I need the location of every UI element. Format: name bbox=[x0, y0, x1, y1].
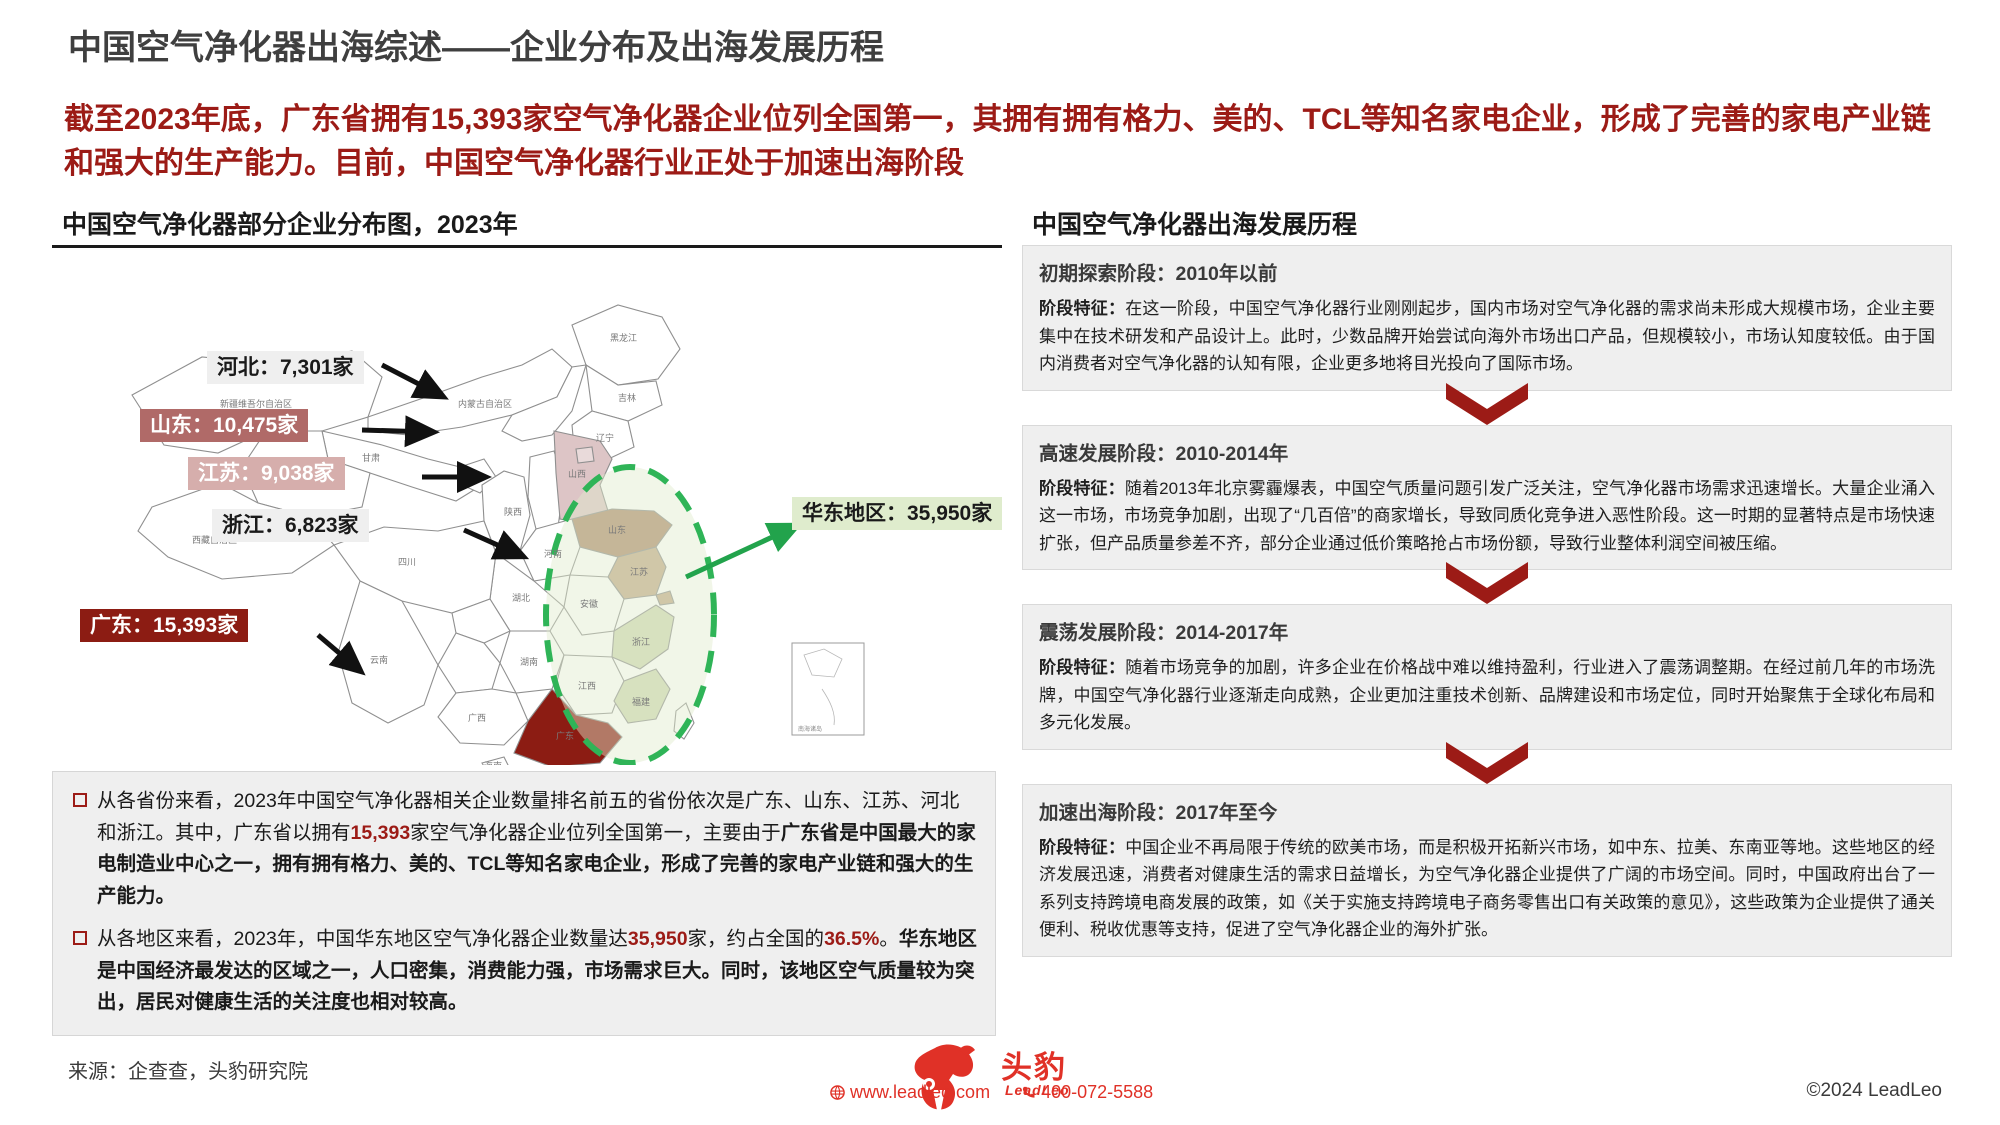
svg-text:陕西: 陕西 bbox=[504, 506, 522, 517]
bullet-text-provinces: 从各省份来看，2023年中国空气净化器相关企业数量排名前五的省份依次是广东、山东… bbox=[97, 786, 977, 912]
svg-text:江西: 江西 bbox=[578, 681, 596, 691]
stage-title-2: 震荡发展阶段：2014-2017年 bbox=[1039, 616, 1935, 645]
footer-contact: www.leadleo.com 400-072-5588 bbox=[830, 1082, 1179, 1103]
map-label-jiangsu: 江苏：9,038家 bbox=[188, 457, 345, 490]
stage-text-0: 在这一阶段，中国空气净化器行业刚刚起步，国内市场对空气净化器的需求尚未形成大规模… bbox=[1039, 299, 1935, 373]
stage-body-1: 阶段特征：随着2013年北京雾霾爆表，中国空气质量问题引发广泛关注，空气净化器市… bbox=[1039, 475, 1935, 558]
map-label-guangdong: 广东：15,393家 bbox=[80, 609, 248, 642]
svg-text:广西: 广西 bbox=[468, 712, 486, 723]
stage-card-1: 高速发展阶段：2010-2014年 阶段特征：随着2013年北京雾霾爆表，中国空… bbox=[1022, 425, 1952, 571]
svg-text:湖北: 湖北 bbox=[512, 593, 530, 603]
timeline-column: 初期探索阶段：2010年以前 阶段特征：在这一阶段，中国空气净化器行业刚刚起步，… bbox=[1022, 245, 1952, 957]
stage-text-2: 随着市场竞争的加剧，许多企业在价格战中难以维持盈利，行业进入了震荡调整期。在经过… bbox=[1039, 658, 1935, 732]
svg-text:黑龙江: 黑龙江 bbox=[610, 332, 637, 343]
svg-text:江苏: 江苏 bbox=[630, 566, 648, 577]
svg-text:山西: 山西 bbox=[568, 469, 586, 479]
map-label-zhejiang: 浙江：6,823家 bbox=[212, 509, 369, 542]
svg-text:福建: 福建 bbox=[632, 696, 650, 707]
stage-card-0: 初期探索阶段：2010年以前 阶段特征：在这一阶段，中国空气净化器行业刚刚起步，… bbox=[1022, 245, 1952, 391]
copyright-text: ©2024 LeadLeo bbox=[1806, 1080, 1942, 1102]
arrow-shandong bbox=[362, 430, 430, 432]
stage-label-1: 阶段特征： bbox=[1039, 479, 1125, 498]
left-column: 黑龙江 吉林 辽宁 内蒙古自治区 新疆维吾尔自治区 西藏自治区 青海 甘肃 四川… bbox=[52, 245, 1002, 1035]
svg-text:辽宁: 辽宁 bbox=[596, 432, 614, 443]
left-section-title: 中国空气净化器部分企业分布图，2023年 bbox=[62, 205, 518, 247]
svg-text:浙江: 浙江 bbox=[632, 636, 650, 647]
stage-card-3: 加速出海阶段：2017年至今 阶段特征：中国企业不再局限于传统的欧美市场，而是积… bbox=[1022, 784, 1952, 957]
website-text: www.leadleo.com bbox=[850, 1082, 990, 1102]
svg-text:湖南: 湖南 bbox=[520, 656, 538, 667]
chevron-separator-1 bbox=[1022, 570, 1952, 604]
globe-icon bbox=[830, 1085, 845, 1100]
stage-body-0: 阶段特征：在这一阶段，中国空气净化器行业刚刚起步，国内市场对空气净化器的需求尚未… bbox=[1039, 295, 1935, 378]
stage-card-2: 震荡发展阶段：2014-2017年 阶段特征：随着市场竞争的加剧，许多企业在价格… bbox=[1022, 604, 1952, 750]
phone-text: 400-072-5588 bbox=[1041, 1082, 1153, 1102]
arrow-hebei bbox=[382, 365, 440, 395]
leadleo-logo: 头豹 LeadLeo bbox=[905, 1040, 1325, 1120]
bullet-item-provinces: 从各省份来看，2023年中国空气净化器相关企业数量排名前五的省份依次是广东、山东… bbox=[71, 786, 977, 912]
svg-text:吉林: 吉林 bbox=[618, 392, 636, 403]
source-note: 来源：企查查，头豹研究院 bbox=[68, 1055, 308, 1084]
svg-text:四川: 四川 bbox=[398, 557, 416, 567]
logo-text-cn: 头豹 bbox=[1001, 1042, 1067, 1087]
stage-body-3: 阶段特征：中国企业不再局限于传统的欧美市场，而是积极开拓新兴市场，如中东、拉美、… bbox=[1039, 834, 1935, 944]
stage-text-3: 中国企业不再局限于传统的欧美市场，而是积极开拓新兴市场，如中东、拉美、东南亚等地… bbox=[1039, 838, 1935, 940]
page-title: 中国空气净化器出海综述——企业分布及出海发展历程 bbox=[68, 20, 1948, 69]
phone-group[interactable]: 400-072-5588 bbox=[1021, 1082, 1153, 1102]
stage-title-1: 高速发展阶段：2010-2014年 bbox=[1039, 437, 1935, 466]
stage-title-3: 加速出海阶段：2017年至今 bbox=[1039, 796, 1935, 825]
bullet-square-icon bbox=[73, 931, 87, 945]
china-map: 黑龙江 吉林 辽宁 内蒙古自治区 新疆维吾尔自治区 西藏自治区 青海 甘肃 四川… bbox=[52, 245, 1002, 765]
svg-text:内蒙古自治区: 内蒙古自治区 bbox=[458, 398, 512, 409]
page-subtitle: 截至2023年底，广东省拥有15,393家空气净化器企业位列全国第一，其拥有拥有… bbox=[64, 98, 1944, 185]
slide-page: 中国空气净化器出海综述——企业分布及出海发展历程 截至2023年底，广东省拥有1… bbox=[0, 0, 2000, 1125]
stage-label-2: 阶段特征： bbox=[1039, 658, 1125, 677]
phone-icon bbox=[1021, 1085, 1036, 1100]
chevron-separator-2 bbox=[1022, 750, 1952, 784]
chevron-down-icon bbox=[1446, 562, 1528, 604]
svg-text:山东: 山东 bbox=[608, 524, 626, 535]
chevron-separator-0 bbox=[1022, 391, 1952, 425]
bullet-square-icon bbox=[73, 793, 87, 807]
map-label-shandong: 山东：10,475家 bbox=[140, 409, 308, 442]
map-label-hebei: 河北：7,301家 bbox=[207, 351, 364, 384]
stage-title-0: 初期探索阶段：2010年以前 bbox=[1039, 257, 1935, 286]
svg-text:甘肃: 甘肃 bbox=[362, 452, 380, 463]
bullet-text-regions: 从各地区来看，2023年，中国华东地区空气净化器企业数量达35,950家，约占全… bbox=[97, 924, 977, 1019]
svg-text:新疆维吾尔自治区: 新疆维吾尔自治区 bbox=[220, 398, 292, 409]
left-summary-box: 从各省份来看，2023年中国空气净化器相关企业数量排名前五的省份依次是广东、山东… bbox=[52, 771, 996, 1036]
stage-text-1: 随着2013年北京雾霾爆表，中国空气质量问题引发广泛关注，空气净化器市场需求迅速… bbox=[1039, 479, 1935, 553]
map-label-huadong: 华东地区：35,950家 bbox=[792, 497, 1002, 530]
stage-label-0: 阶段特征： bbox=[1039, 299, 1125, 318]
right-section-title: 中国空气净化器出海发展历程 bbox=[1032, 205, 1357, 247]
bullet-item-regions: 从各地区来看，2023年，中国华东地区空气净化器企业数量达35,950家，约占全… bbox=[71, 924, 977, 1019]
website-group[interactable]: www.leadleo.com bbox=[830, 1082, 995, 1102]
stage-body-2: 阶段特征：随着市场竞争的加剧，许多企业在价格战中难以维持盈利，行业进入了震荡调整… bbox=[1039, 654, 1935, 737]
svg-text:河南: 河南 bbox=[544, 548, 562, 559]
svg-text:海南: 海南 bbox=[484, 760, 502, 765]
svg-text:广东: 广东 bbox=[556, 730, 574, 741]
svg-text:南海诸岛: 南海诸岛 bbox=[798, 725, 822, 733]
chevron-down-icon bbox=[1446, 383, 1528, 425]
stage-label-3: 阶段特征： bbox=[1039, 838, 1125, 857]
svg-text:安徽: 安徽 bbox=[580, 598, 598, 609]
svg-text:云南: 云南 bbox=[370, 654, 388, 665]
chevron-down-icon bbox=[1446, 742, 1528, 784]
